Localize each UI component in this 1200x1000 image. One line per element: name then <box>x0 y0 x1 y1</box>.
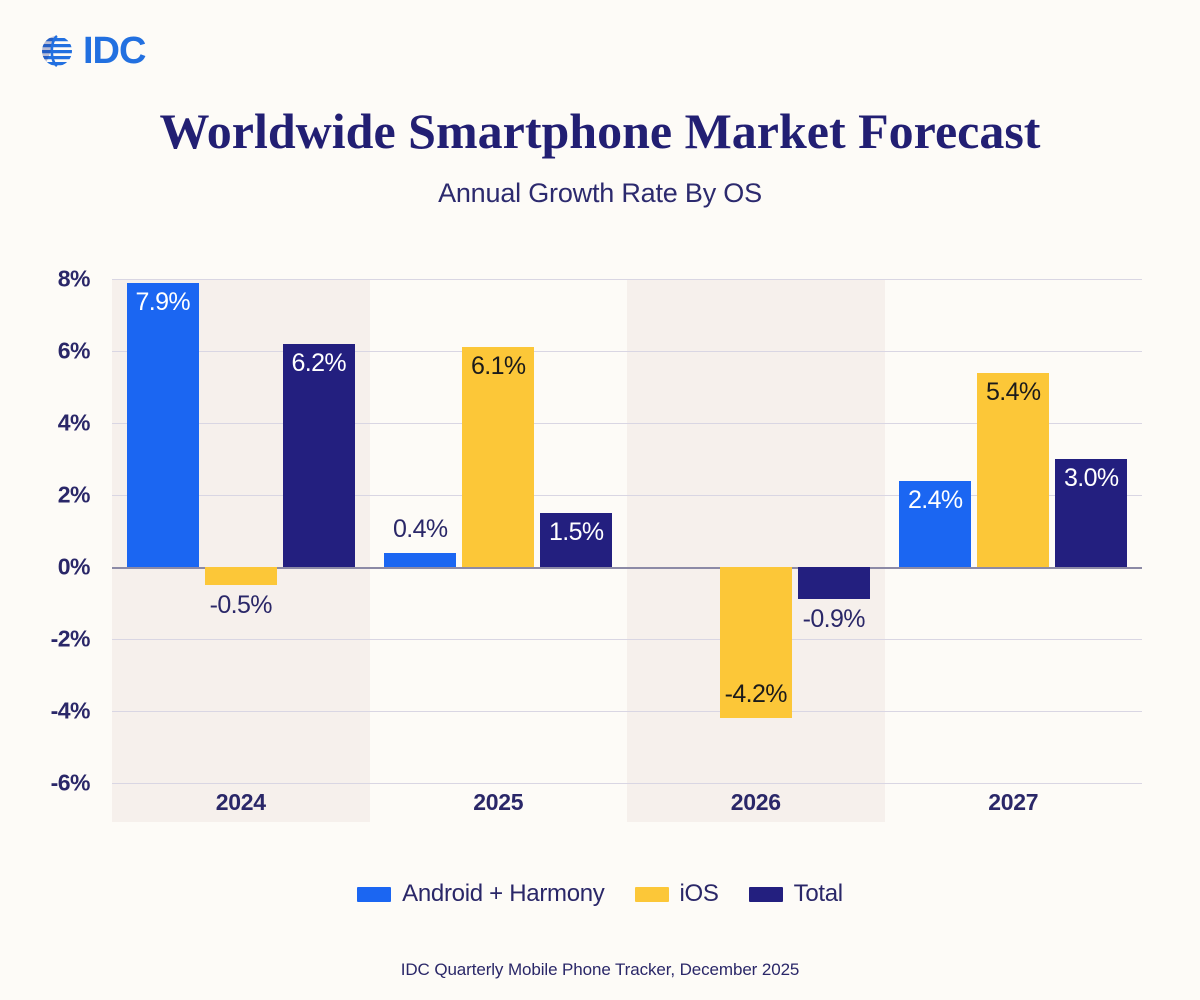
legend-item[interactable]: Total <box>749 880 843 908</box>
bar-value-label: 3.0% <box>1028 464 1154 493</box>
bar-2024-android[interactable] <box>127 283 199 567</box>
bar-value-label: 6.1% <box>435 352 561 381</box>
source-note: IDC Quarterly Mobile Phone Tracker, Dece… <box>0 960 1200 980</box>
legend-label: Total <box>794 880 843 908</box>
legend-label: Android + Harmony <box>402 880 604 908</box>
x-axis-tick-label: 2024 <box>112 789 370 816</box>
gridline <box>112 279 1142 280</box>
y-axis-tick-label: 4% <box>28 410 90 437</box>
bar-value-label: 6.2% <box>256 349 382 378</box>
bar-value-label: -4.2% <box>693 680 819 709</box>
chart-legend: Android + HarmonyiOSTotal <box>0 880 1200 908</box>
legend-item[interactable]: Android + Harmony <box>357 880 604 908</box>
y-axis-tick-label: 6% <box>28 338 90 365</box>
bar-2025-android[interactable] <box>384 553 456 567</box>
x-axis-tick-label: 2027 <box>885 789 1143 816</box>
bar-value-label: 7.9% <box>100 288 226 317</box>
y-axis-tick-label: -2% <box>28 626 90 653</box>
y-axis-tick-label: -4% <box>28 698 90 725</box>
chart-plot-area: 8%6%4%2%0%-2%-4%-6%7.9%-0.5%6.2%20240.4%… <box>0 0 1200 1000</box>
y-axis-tick-label: 2% <box>28 482 90 509</box>
category-band <box>627 279 885 822</box>
y-axis-tick-label: -6% <box>28 770 90 797</box>
gridline <box>112 783 1142 784</box>
bar-value-label: -0.9% <box>771 605 897 634</box>
legend-swatch-icon <box>635 887 669 902</box>
bar-value-label: 1.5% <box>513 518 639 547</box>
y-axis-tick-label: 0% <box>28 554 90 581</box>
bar-2024-ios[interactable] <box>205 567 277 585</box>
y-axis-tick-label: 8% <box>28 266 90 293</box>
bar-2026-total[interactable] <box>798 567 870 599</box>
gridline <box>112 639 1142 640</box>
bar-value-label: 5.4% <box>950 378 1076 407</box>
x-axis-tick-label: 2025 <box>370 789 628 816</box>
legend-swatch-icon <box>357 887 391 902</box>
x-axis-tick-label: 2026 <box>627 789 885 816</box>
gridline <box>112 711 1142 712</box>
legend-swatch-icon <box>749 887 783 902</box>
legend-label: iOS <box>680 880 719 908</box>
legend-item[interactable]: iOS <box>635 880 719 908</box>
bar-value-label: -0.5% <box>178 591 304 620</box>
